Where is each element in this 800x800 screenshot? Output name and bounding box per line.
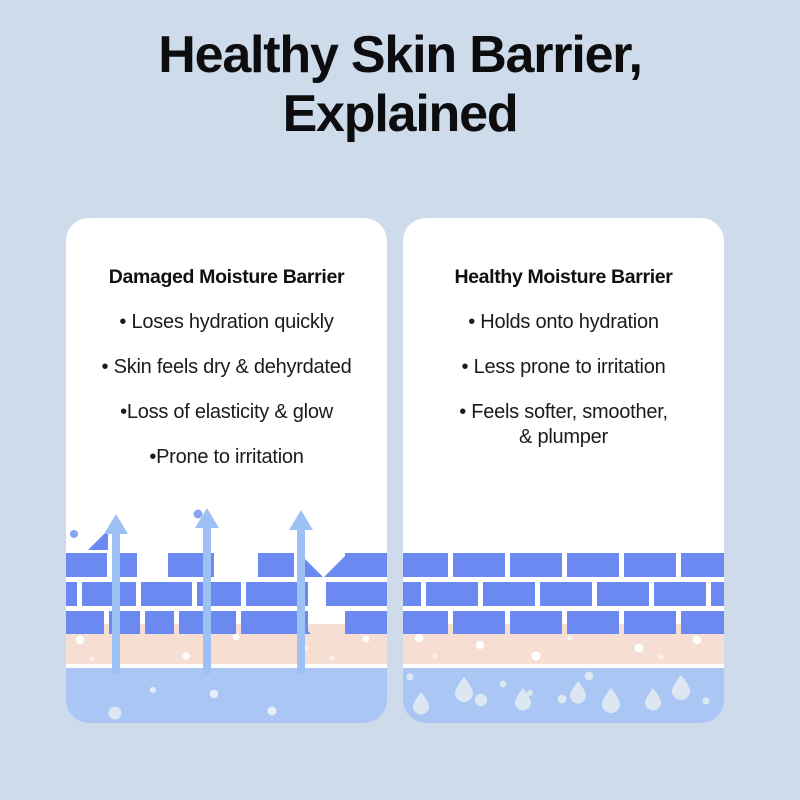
comparison-cards: Damaged Moisture Barrier • Loses hydrati…	[66, 218, 724, 723]
list-item: •Loss of elasticity & glow	[66, 400, 387, 425]
list-item: •Prone to irritation	[66, 445, 387, 470]
card-damaged-barrier: Damaged Moisture Barrier • Loses hydrati…	[66, 218, 387, 723]
list-item: • Loses hydration quickly	[66, 310, 387, 335]
healthy-barrier-diagram	[403, 498, 724, 723]
card-healthy-barrier: Healthy Moisture Barrier • Holds onto hy…	[403, 218, 724, 723]
list-item: • Skin feels dry & dehyrdated	[66, 355, 387, 380]
card-healthy-title: Healthy Moisture Barrier	[403, 266, 724, 289]
list-item: • Holds onto hydration	[403, 310, 724, 335]
list-item: • Less prone to irritation	[403, 355, 724, 380]
card-damaged-bullets: • Loses hydration quickly • Skin feels d…	[66, 310, 387, 490]
damaged-barrier-diagram	[66, 498, 387, 723]
card-damaged-title: Damaged Moisture Barrier	[66, 266, 387, 289]
page-title: Healthy Skin Barrier, Explained	[0, 26, 800, 144]
infographic-page: Healthy Skin Barrier, Explained Damaged …	[0, 0, 800, 800]
card-healthy-bullets: • Holds onto hydration • Less prone to i…	[403, 310, 724, 470]
intact-brick-wall	[403, 553, 724, 634]
list-item: • Feels softer, smoother, & plumper	[403, 400, 724, 450]
floating-particle	[194, 510, 203, 519]
floating-particle	[70, 530, 78, 538]
